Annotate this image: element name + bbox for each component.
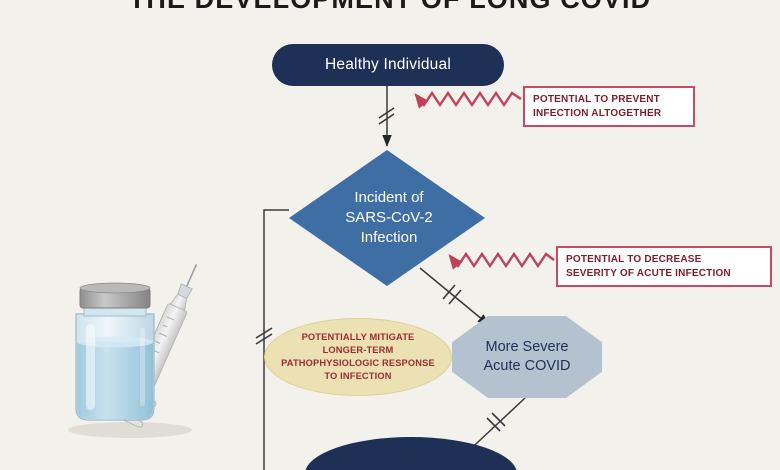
node-healthy-individual-label: Healthy Individual	[325, 56, 451, 74]
callout-prevent-line1: POTENTIAL TO PREVENT	[533, 93, 686, 107]
connector-incident-to-severe	[420, 268, 489, 325]
node-mitigate-line4: TO INFECTION	[281, 370, 435, 383]
vaccine-vial	[76, 283, 154, 420]
node-mitigate-line1: POTENTIALLY MITIGATE	[281, 331, 435, 344]
callout-severity-line1: POTENTIAL TO DECREASE	[566, 253, 763, 267]
node-mitigate-line3: PATHOPHYSIOLOGIC RESPONSE	[281, 357, 435, 370]
callout-severity-line2: SEVERITY OF ACUTE INFECTION	[566, 267, 763, 281]
callout-prevent-infection: POTENTIAL TO PREVENT INFECTION ALTOGETHE…	[523, 86, 695, 127]
node-incident-line3: Infection	[345, 228, 433, 248]
illustration-shadow	[68, 422, 192, 438]
callout-prevent-line2: INFECTION ALTOGETHER	[533, 107, 686, 121]
zigzag-arrow-severity	[450, 254, 554, 266]
node-incident-line1: Incident of	[345, 188, 433, 208]
node-severe-acute-covid[interactable]: More Severe Acute COVID	[452, 316, 602, 398]
vaccine-vial-and-syringe-illustration	[52, 258, 224, 448]
node-severe-line2: Acute COVID	[483, 357, 570, 376]
infographic-canvas: THE DEVELOPMENT OF LONG COVID	[0, 0, 780, 470]
node-mitigate-line2: LONGER-TERM	[281, 344, 435, 357]
node-severe-line1: More Severe	[483, 338, 570, 357]
node-incident-line2: SARS-CoV-2	[345, 208, 433, 228]
zigzag-arrow-prevent	[416, 93, 521, 105]
node-healthy-individual[interactable]: Healthy Individual	[272, 44, 504, 86]
node-mitigate-response[interactable]: POTENTIALLY MITIGATE LONGER-TERM PATHOPH…	[264, 318, 452, 396]
connector-healthy-to-incident	[379, 86, 394, 146]
callout-decrease-severity: POTENTIAL TO DECREASE SEVERITY OF ACUTE …	[556, 246, 772, 287]
